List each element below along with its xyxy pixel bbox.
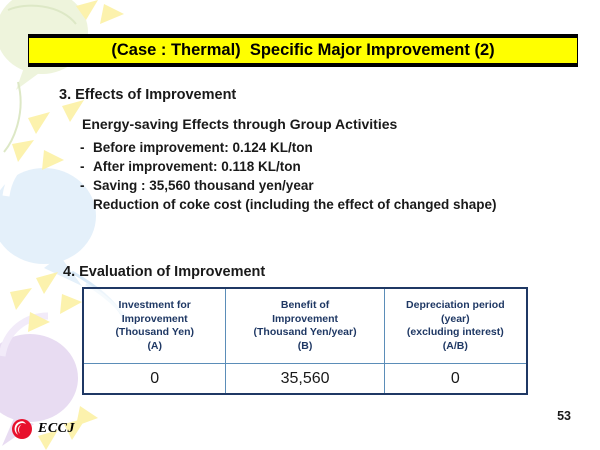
list-item: - Saving : 35,560 thousand yen/year bbox=[80, 176, 550, 195]
bullet-dash-icon: - bbox=[80, 176, 93, 195]
table-row: 0 35,560 0 bbox=[83, 364, 527, 395]
table-cell-investment-value: 0 bbox=[83, 364, 226, 395]
header-line: Improvement bbox=[228, 313, 381, 327]
section-4-heading: 4. Evaluation of Improvement bbox=[63, 264, 265, 280]
section-3-subheading: Energy-saving Effects through Group Acti… bbox=[82, 116, 397, 132]
eccj-circle-logo-icon bbox=[11, 418, 33, 440]
section-3-bullet-list: - Before improvement: 0.124 KL/ton - Aft… bbox=[80, 138, 550, 214]
list-item-label: Before improvement: 0.124 KL/ton bbox=[93, 138, 313, 157]
evaluation-table: Investment for Improvement (Thousand Yen… bbox=[82, 287, 528, 395]
table-cell-benefit-value: 35,560 bbox=[226, 364, 384, 395]
header-line: Benefit of bbox=[228, 299, 381, 313]
table-cell-depreciation-value: 0 bbox=[384, 364, 527, 395]
slide-canvas: (Case : Thermal) Specific Major Improvem… bbox=[0, 0, 600, 450]
list-item-label: Saving : 35,560 thousand yen/year bbox=[93, 176, 314, 195]
header-line: Investment for bbox=[86, 299, 223, 313]
list-item: - Before improvement: 0.124 KL/ton bbox=[80, 138, 550, 157]
bullet-dash-icon: - bbox=[80, 157, 93, 176]
table-header-row: Investment for Improvement (Thousand Yen… bbox=[83, 288, 527, 364]
table-header-depreciation: Depreciation period (year) (excluding in… bbox=[384, 288, 527, 364]
slide-title-banner: (Case : Thermal) Specific Major Improvem… bbox=[28, 34, 578, 67]
page-number: 53 bbox=[557, 409, 571, 423]
list-item: - After improvement: 0.118 KL/ton bbox=[80, 157, 550, 176]
page-title: (Case : Thermal) Specific Major Improvem… bbox=[111, 41, 494, 60]
header-line: (Thousand Yen) bbox=[86, 326, 223, 340]
list-item-label: After improvement: 0.118 KL/ton bbox=[93, 157, 301, 176]
table-header-investment: Investment for Improvement (Thousand Yen… bbox=[83, 288, 226, 364]
header-line: (B) bbox=[228, 340, 381, 354]
header-line: Depreciation period bbox=[387, 299, 524, 313]
eccj-logo-text: ECCJ bbox=[38, 421, 75, 437]
header-line: (excluding interest) bbox=[387, 326, 524, 340]
bubble-green-shape bbox=[0, 0, 88, 152]
header-line: (A/B) bbox=[387, 340, 524, 354]
bullet-dash-icon: - bbox=[80, 138, 93, 157]
header-line: (year) bbox=[387, 313, 524, 327]
header-line: Improvement bbox=[86, 313, 223, 327]
table-header-benefit: Benefit of Improvement (Thousand Yen/yea… bbox=[226, 288, 384, 364]
header-line: (Thousand Yen/year) bbox=[228, 326, 381, 340]
eccj-logo: ECCJ bbox=[11, 418, 75, 440]
section-3-continuation-text: Reduction of coke cost (including the ef… bbox=[80, 195, 543, 214]
section-3-heading: 3. Effects of Improvement bbox=[59, 87, 236, 103]
header-line: (A) bbox=[86, 340, 223, 354]
